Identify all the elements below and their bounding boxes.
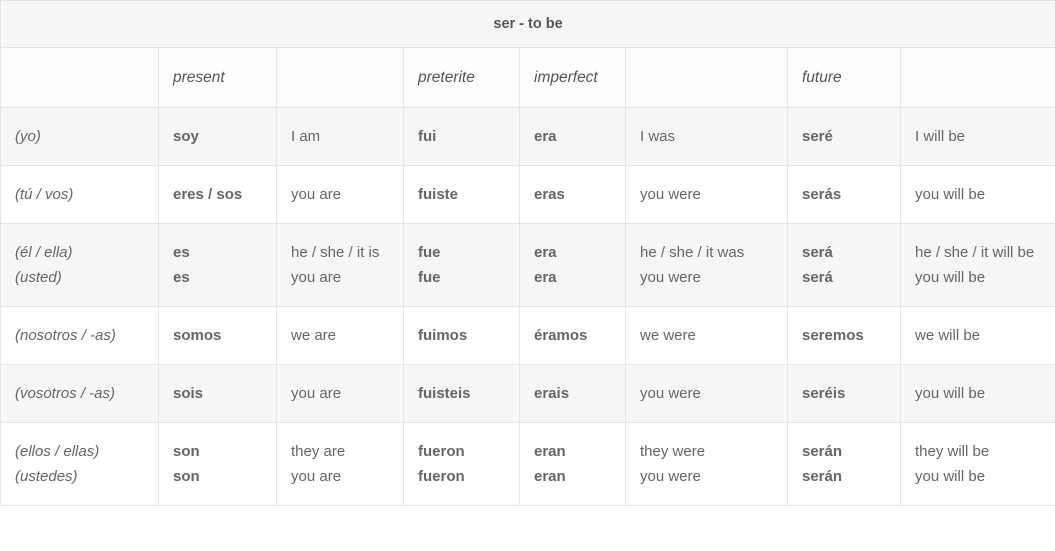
cell-future-translation: he / she / it will beyou will be [901,224,1055,307]
cell-line: fue [418,240,505,265]
cell-line: era [534,124,611,149]
cell-imperfect: éramos [520,307,626,365]
cell-line: they will be [915,439,1041,464]
cell-line: es [173,240,262,265]
cell-present-translation: you are [277,365,404,423]
cell-future: seránserán [788,423,901,506]
cell-future-translation: you will be [901,166,1055,224]
cell-line: (ellos / ellas) [15,439,144,464]
column-header-imperfect: imperfect [520,48,626,108]
table-row: (tú / vos)eres / sosyou arefuisteerasyou… [1,166,1055,224]
cell-imperfect: era [520,108,626,166]
cell-line: era [534,240,611,265]
column-header-present: present [159,48,277,108]
cell-pronoun: (él / ella)(usted) [1,224,159,307]
cell-preterite: fueronfueron [404,423,520,506]
column-header-imperfect-translation [626,48,788,108]
column-header-future-translation [901,48,1055,108]
cell-line: you were [640,464,773,489]
table-row: (yo)soyI amfuieraI wasseréI will be [1,108,1055,166]
table-row: (vosotros / -as)soisyou arefuisteiserais… [1,365,1055,423]
cell-line: son [173,464,262,489]
cell-line: sois [173,381,262,406]
cell-line: you will be [915,381,1041,406]
cell-future: seréis [788,365,901,423]
cell-line: son [173,439,262,464]
cell-present: sois [159,365,277,423]
cell-line: fuiste [418,182,505,207]
cell-line: I was [640,124,773,149]
cell-line: seré [802,124,886,149]
cell-line: (yo) [15,124,144,149]
cell-line: fui [418,124,505,149]
cell-present-translation: we are [277,307,404,365]
cell-imperfect-translation: he / she / it wasyou were [626,224,788,307]
cell-line: (tú / vos) [15,182,144,207]
cell-line: será [802,265,886,290]
cell-preterite: fuiste [404,166,520,224]
column-header-preterite: preterite [404,48,520,108]
table-row: (ellos / ellas)(ustedes)sonsonthey areyo… [1,423,1055,506]
cell-line: (vosotros / -as) [15,381,144,406]
cell-line: he / she / it will be [915,240,1041,265]
cell-line: será [802,240,886,265]
column-header-row: present preterite imperfect future [1,48,1055,108]
table-body: ser - to be present preterite imperfect … [1,1,1055,506]
cell-future-translation: they will beyou will be [901,423,1055,506]
cell-present-translation: I am [277,108,404,166]
cell-imperfect: erais [520,365,626,423]
cell-preterite: fuefue [404,224,520,307]
cell-line: you are [291,182,389,207]
cell-line: fueron [418,464,505,489]
cell-pronoun: (vosotros / -as) [1,365,159,423]
cell-line: eran [534,439,611,464]
cell-future-translation: we will be [901,307,1055,365]
cell-present: sonson [159,423,277,506]
cell-line: we will be [915,323,1041,348]
cell-line: serán [802,439,886,464]
cell-line: seremos [802,323,886,348]
cell-present: soy [159,108,277,166]
cell-present: eres / sos [159,166,277,224]
cell-line: serán [802,464,886,489]
cell-imperfect-translation: I was [626,108,788,166]
cell-line: eres / sos [173,182,262,207]
cell-line: he / she / it is [291,240,389,265]
cell-imperfect-translation: we were [626,307,788,365]
cell-line: we were [640,323,773,348]
cell-pronoun: (tú / vos) [1,166,159,224]
cell-line: you are [291,265,389,290]
cell-line: erais [534,381,611,406]
cell-preterite: fuimos [404,307,520,365]
cell-present-translation: you are [277,166,404,224]
cell-line: they are [291,439,389,464]
cell-line: fuimos [418,323,505,348]
table-row: (él / ella)(usted)eseshe / she / it isyo… [1,224,1055,307]
cell-line: (ustedes) [15,464,144,489]
cell-line: eras [534,182,611,207]
cell-line: you will be [915,265,1041,290]
cell-line: we are [291,323,389,348]
table-title-row: ser - to be [1,1,1055,48]
cell-future: seremos [788,307,901,365]
cell-line: fue [418,265,505,290]
cell-line: era [534,265,611,290]
cell-future: serás [788,166,901,224]
cell-line: éramos [534,323,611,348]
cell-line: serás [802,182,886,207]
cell-line: somos [173,323,262,348]
cell-future: seráserá [788,224,901,307]
column-header-pronoun [1,48,159,108]
cell-line: you will be [915,464,1041,489]
cell-line: (nosotros / -as) [15,323,144,348]
cell-line: you are [291,464,389,489]
verb-conjugation-table: ser - to be present preterite imperfect … [0,0,1055,506]
verb-title: ser - to be [1,1,1055,48]
cell-present: somos [159,307,277,365]
cell-future-translation: I will be [901,108,1055,166]
cell-line: soy [173,124,262,149]
cell-line: I am [291,124,389,149]
cell-pronoun: (nosotros / -as) [1,307,159,365]
cell-present-translation: they areyou are [277,423,404,506]
cell-preterite: fuisteis [404,365,520,423]
cell-line: they were [640,439,773,464]
cell-pronoun: (yo) [1,108,159,166]
cell-line: you were [640,381,773,406]
column-header-present-translation [277,48,404,108]
cell-imperfect: eras [520,166,626,224]
cell-line: fueron [418,439,505,464]
cell-future-translation: you will be [901,365,1055,423]
table-row: (nosotros / -as)somoswe arefuimoséramosw… [1,307,1055,365]
cell-line: you are [291,381,389,406]
cell-preterite: fui [404,108,520,166]
cell-imperfect-translation: you were [626,365,788,423]
cell-imperfect-translation: you were [626,166,788,224]
cell-imperfect: eraera [520,224,626,307]
cell-line: he / she / it was [640,240,773,265]
cell-line: you will be [915,182,1041,207]
cell-line: you were [640,182,773,207]
cell-present-translation: he / she / it isyou are [277,224,404,307]
column-header-future: future [788,48,901,108]
cell-imperfect: eraneran [520,423,626,506]
cell-future: seré [788,108,901,166]
cell-line: seréis [802,381,886,406]
cell-line: fuisteis [418,381,505,406]
cell-pronoun: (ellos / ellas)(ustedes) [1,423,159,506]
cell-line: es [173,265,262,290]
cell-line: you were [640,265,773,290]
cell-present: eses [159,224,277,307]
cell-imperfect-translation: they wereyou were [626,423,788,506]
cell-line: eran [534,464,611,489]
cell-line: (usted) [15,265,144,290]
cell-line: I will be [915,124,1041,149]
cell-line: (él / ella) [15,240,144,265]
